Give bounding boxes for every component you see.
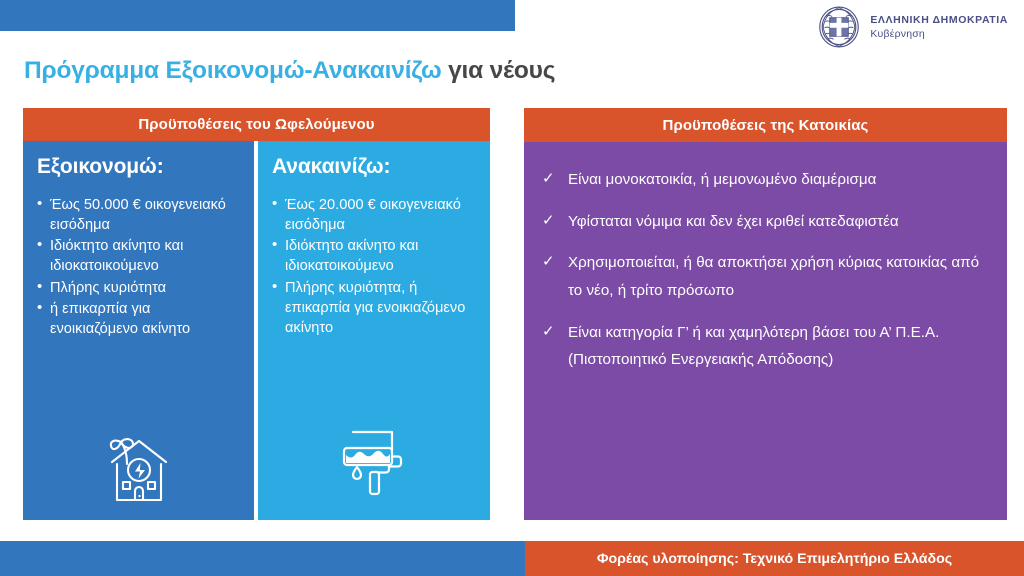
footer-blue-bar <box>0 541 525 576</box>
column-exoikonomo: Εξοικονομώ: Έως 50.000 € οικογενειακό ει… <box>23 141 254 520</box>
list-item: ✓ Υφίσταται νόμιμα και δεν έχει κριθεί κ… <box>540 208 991 236</box>
page-title-accent: Πρόγραμμα Εξοικονομώ-Ανακαινίζω <box>24 57 442 84</box>
emblem-subtitle: Κυβέρνηση <box>870 28 1008 40</box>
list-item-label: Είναι μονοκατοικία, ή μεμονωμένο διαμέρι… <box>568 171 876 188</box>
list-item: Ιδιόκτητο ακίνητο και ιδιοκατοικούμενο <box>37 236 240 276</box>
paint-roller-icon <box>258 428 490 498</box>
greek-coat-of-arms-icon <box>817 5 861 49</box>
list-item: Πλήρης κυριότητα <box>37 278 240 298</box>
list-item: ✓ Είναι μονοκατοικία, ή μεμονωμένο διαμέ… <box>540 166 991 194</box>
check-icon: ✓ <box>542 320 555 344</box>
residence-card-header: Προϋποθέσεις της Κατοικίας <box>524 108 1007 142</box>
residence-conditions-card: Προϋποθέσεις της Κατοικίας ✓ Είναι μονοκ… <box>524 108 1007 520</box>
eco-house-energy-icon <box>23 430 254 506</box>
check-icon: ✓ <box>542 209 555 233</box>
list-item: Ιδιόκτητο ακίνητο και ιδιοκατοικούμενο <box>272 236 476 276</box>
column-exoikonomo-title: Εξοικονομώ: <box>37 155 240 179</box>
column-exoikonomo-bullets: Έως 50.000 € οικογενειακό εισόδημα Ιδιόκ… <box>37 195 240 339</box>
list-item-label: Είναι κατηγορία Γ’ ή και χαμηλότερη βάσε… <box>568 324 939 369</box>
top-accent-banner <box>0 0 515 31</box>
list-item: ή επικαρπία για ενοικιαζόμενο ακίνητο <box>37 299 240 339</box>
column-anakainizo: Ανακαινίζω: Έως 20.000 € οικογενειακό ει… <box>258 141 490 520</box>
beneficiary-columns: Εξοικονομώ: Έως 50.000 € οικογενειακό ει… <box>23 141 490 520</box>
list-item-label: Υφίσταται νόμιμα και δεν έχει κριθεί κατ… <box>568 213 899 230</box>
beneficiary-card-header: Προϋποθέσεις του Ωφελούμενου <box>23 108 490 141</box>
column-anakainizo-bullets: Έως 20.000 € οικογενειακό εισόδημα Ιδιόκ… <box>272 195 476 338</box>
list-item: ✓ Είναι κατηγορία Γ’ ή και χαμηλότερη βά… <box>540 319 991 374</box>
list-item: Πλήρης κυριότητα, ή επικαρπία για ενοικι… <box>272 278 476 338</box>
page-title: Πρόγραμμα Εξοικονομώ-Ανακαινίζω για νέου… <box>24 57 555 85</box>
residence-card-body: ✓ Είναι μονοκατοικία, ή μεμονωμένο διαμέ… <box>524 142 1007 520</box>
list-item: ✓ Χρησιμοποιείται, ή θα αποκτήσει χρήση … <box>540 249 991 304</box>
check-icon: ✓ <box>542 167 555 191</box>
check-icon: ✓ <box>542 250 555 274</box>
list-item: Έως 20.000 € οικογενειακό εισόδημα <box>272 195 476 235</box>
residence-checklist: ✓ Είναι μονοκατοικία, ή μεμονωμένο διαμέ… <box>540 166 991 374</box>
footer-implementer-bar: Φορέας υλοποίησης: Τεχνικό Επιμελητήριο … <box>525 541 1024 576</box>
list-item: Έως 50.000 € οικογενειακό εισόδημα <box>37 195 240 235</box>
beneficiary-conditions-card: Προϋποθέσεις του Ωφελούμενου Εξοικονομώ:… <box>23 108 490 520</box>
page-title-plain: για νέους <box>442 57 556 84</box>
list-item-label: Χρησιμοποιείται, ή θα αποκτήσει χρήση κύ… <box>568 254 979 299</box>
government-branding: ΕΛΛΗΝΙΚΗ ΔΗΜΟΚΡΑΤΙΑ Κυβέρνηση <box>817 5 1008 49</box>
column-anakainizo-title: Ανακαινίζω: <box>272 155 476 179</box>
emblem-title: ΕΛΛΗΝΙΚΗ ΔΗΜΟΚΡΑΤΙΑ <box>870 14 1008 26</box>
